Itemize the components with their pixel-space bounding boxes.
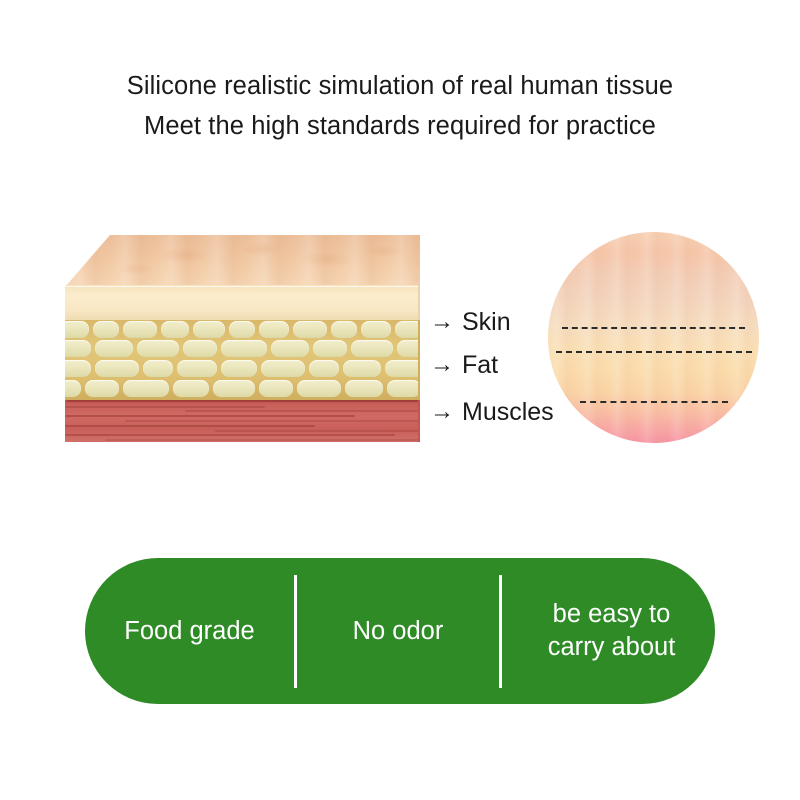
layer-label-fat: → Fat	[430, 350, 498, 380]
feature-item-easy-to-carry[interactable]: be easy to carry about	[502, 558, 721, 704]
fat-cell	[183, 340, 217, 357]
fat-cell	[65, 340, 91, 357]
fat-cell	[173, 380, 209, 397]
fat-cell	[309, 360, 339, 377]
fat-cell	[123, 380, 169, 397]
fat-cell	[259, 380, 293, 397]
headline-line-1: Silicone realistic simulation of real hu…	[0, 66, 800, 106]
cross-section-dash-line	[562, 327, 745, 329]
feature-item-no-odor-label: No odor	[353, 615, 444, 648]
fat-cell-row	[65, 360, 420, 378]
fat-cell	[361, 321, 391, 338]
fat-cell	[221, 340, 267, 357]
fat-cell-row	[65, 340, 420, 358]
fat-cell	[137, 340, 179, 357]
muscle-striation	[65, 415, 355, 417]
arrow-right-icon: →	[430, 353, 454, 377]
fat-cell	[297, 380, 341, 397]
fat-cell	[143, 360, 173, 377]
layer-label-fat-text: Fat	[462, 350, 498, 380]
feature-item-food-grade[interactable]: Food grade	[85, 558, 294, 704]
fat-cell	[95, 340, 133, 357]
muscle-layer-front	[65, 400, 420, 442]
fat-cell	[93, 321, 119, 338]
fat-cell	[259, 321, 289, 338]
fat-cell	[345, 380, 383, 397]
fat-cell	[229, 321, 255, 338]
fat-cell	[65, 380, 81, 397]
tissue-cross-section-circle	[548, 232, 759, 443]
fat-cell	[343, 360, 381, 377]
muscle-striation	[67, 400, 420, 402]
feature-item-no-odor[interactable]: No odor	[297, 558, 499, 704]
cross-section-dash-line	[556, 351, 752, 353]
fat-cell	[65, 321, 89, 338]
layer-label-skin: → Skin	[430, 307, 511, 337]
fat-cell	[397, 340, 420, 357]
muscle-striation	[215, 430, 420, 432]
fat-cell	[271, 340, 309, 357]
arrow-right-icon: →	[430, 400, 454, 424]
fat-cell	[213, 380, 255, 397]
headline-line-2: Meet the high standards required for pra…	[0, 106, 800, 146]
feature-item-food-grade-label: Food grade	[124, 615, 254, 648]
muscle-striation	[65, 425, 315, 427]
layer-label-muscles: → Muscles	[430, 397, 554, 427]
fat-cell	[395, 321, 420, 338]
skin-top-face	[65, 235, 420, 287]
fat-layer-front	[65, 320, 420, 400]
arrow-right-icon: →	[430, 310, 454, 334]
fat-cell	[351, 340, 393, 357]
fat-cell	[385, 360, 420, 377]
feature-item-easy-to-carry-line-2: carry about	[548, 633, 676, 661]
fat-cell	[261, 360, 305, 377]
muscle-striation	[65, 406, 265, 408]
tissue-block-diagram	[60, 230, 425, 450]
muscle-striation	[65, 434, 395, 436]
feature-banner: Food grade No odor be easy to carry abou…	[85, 558, 715, 704]
layer-label-skin-text: Skin	[462, 307, 511, 337]
fat-cell	[293, 321, 327, 338]
cross-section-dash-line	[580, 401, 728, 403]
page-headline: Silicone realistic simulation of real hu…	[0, 66, 800, 146]
fat-cell	[177, 360, 217, 377]
fat-cell	[221, 360, 257, 377]
skin-texture-blotches	[65, 235, 420, 287]
feature-item-easy-to-carry-line-1: be easy to	[553, 600, 671, 628]
muscle-striation	[125, 420, 420, 422]
fat-cell	[95, 360, 139, 377]
fat-cell	[193, 321, 225, 338]
muscle-striation	[105, 439, 420, 441]
fat-cell-row	[65, 321, 420, 339]
fat-cell	[313, 340, 347, 357]
fat-cell	[331, 321, 357, 338]
feature-item-easy-to-carry-label: be easy to carry about	[548, 598, 676, 664]
fat-cell	[161, 321, 189, 338]
skin-layer-front	[65, 285, 420, 320]
muscle-striation	[185, 410, 420, 412]
fat-cell	[387, 380, 420, 397]
fat-cell-row	[65, 380, 420, 398]
fat-cell	[65, 360, 91, 377]
fat-cell	[123, 321, 157, 338]
fat-cell	[85, 380, 119, 397]
layer-label-muscles-text: Muscles	[462, 397, 554, 427]
